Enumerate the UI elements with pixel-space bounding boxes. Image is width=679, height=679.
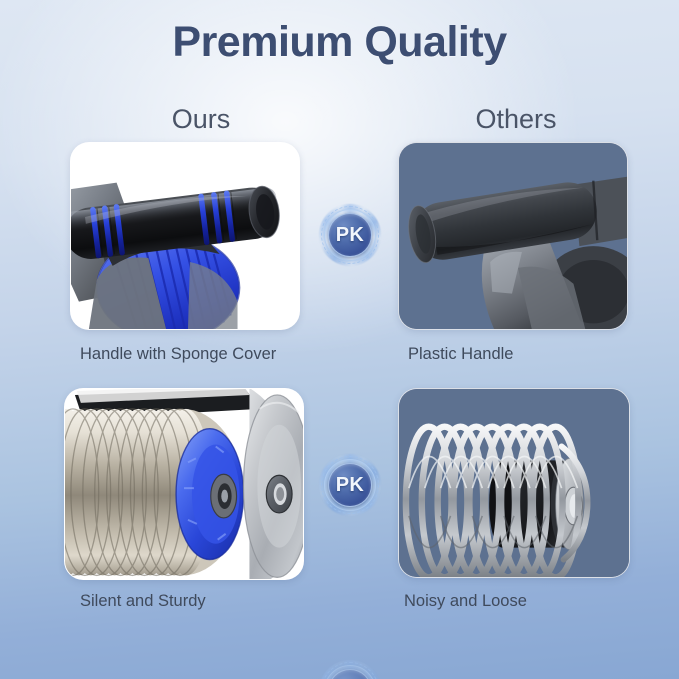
product-image-others-handle bbox=[398, 142, 628, 330]
silent-spring-illustration bbox=[65, 389, 303, 579]
product-image-ours-handle bbox=[70, 142, 300, 330]
caption-ours-handle: Handle with Sponge Cover bbox=[80, 345, 276, 364]
caption-others-handle: Plastic Handle bbox=[408, 345, 513, 364]
pk-badge-partial-bottom: PK bbox=[319, 660, 381, 679]
page-title: Premium Quality bbox=[0, 18, 679, 67]
pk-badge-handle-comparison: PK bbox=[319, 204, 381, 266]
caption-ours-spring: Silent and Sturdy bbox=[80, 592, 206, 611]
pk-label: PK bbox=[336, 224, 364, 247]
product-image-others-spring bbox=[398, 388, 630, 578]
caption-others-spring: Noisy and Loose bbox=[404, 592, 527, 611]
pk-core: PK bbox=[328, 213, 372, 257]
loose-spring-illustration bbox=[399, 389, 629, 577]
product-image-ours-spring bbox=[64, 388, 304, 580]
sponge-handle-illustration bbox=[71, 143, 299, 329]
pk-core: PK bbox=[328, 463, 372, 507]
pk-label: PK bbox=[336, 474, 364, 497]
plastic-handle-illustration bbox=[399, 143, 627, 329]
pk-badge-spring-comparison: PK bbox=[319, 454, 381, 516]
column-header-others: Others bbox=[401, 104, 631, 135]
column-header-ours: Ours bbox=[86, 104, 316, 135]
